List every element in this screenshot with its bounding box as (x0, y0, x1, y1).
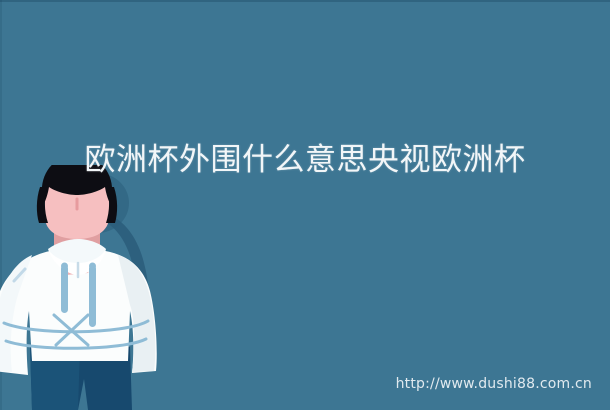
top-edge-line (0, 0, 610, 2)
site-watermark-url: http://www.dushi88.com.cn (396, 375, 592, 393)
person-illustration (0, 165, 162, 410)
person-illustration-svg (0, 165, 162, 410)
thumbnail-canvas: 欧洲杯外围什么意思央视欧洲杯 http://www.dushi88.com.cn (0, 0, 610, 410)
page-title: 欧洲杯外围什么意思央视欧洲杯 (0, 139, 610, 181)
